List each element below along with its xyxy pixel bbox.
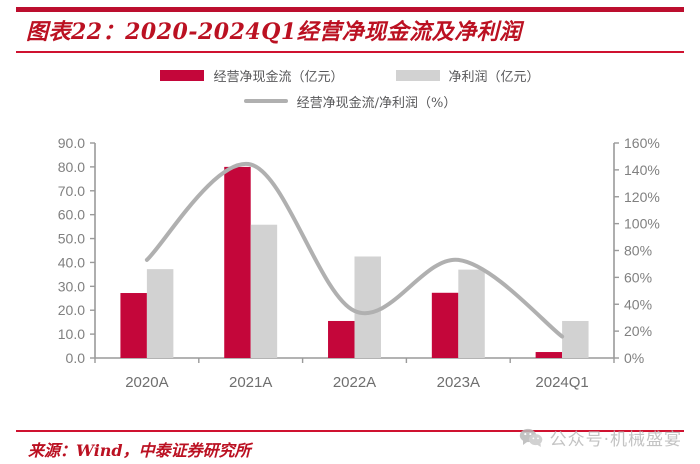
left-axis-tick-label: 20.0 [58, 302, 85, 318]
x-axis-tick-label: 2024Q1 [535, 374, 588, 391]
left-axis-tick-label: 60.0 [58, 207, 85, 223]
x-axis-tick-label: 2023A [437, 374, 480, 391]
legend-item-ratio: 经营净现金流/净利润（%） [244, 92, 457, 111]
title-underline-rule [16, 51, 684, 53]
right-axis-tick-label: 60% [624, 269, 652, 285]
bar-net-profit [251, 225, 277, 358]
bar-net-profit [355, 256, 381, 358]
x-axis-tick-label: 2021A [229, 374, 272, 391]
chart-plot-area: 0.010.020.030.040.050.060.070.080.090.00… [0, 118, 700, 413]
wechat-icon [519, 428, 543, 447]
top-rule [16, 7, 684, 12]
right-axis-tick-label: 160% [624, 135, 660, 151]
legend-swatch-line-icon [244, 99, 288, 103]
page-title: 图表22：2020-2024Q1经营净现金流及净利润 [26, 14, 522, 46]
legend-item-operating-cash-flow: 经营净现金流（亿元） [160, 66, 343, 85]
left-axis-tick-label: 0.0 [66, 350, 86, 366]
legend-row-primary: 经营净现金流（亿元） 净利润（亿元） [0, 62, 700, 88]
legend-row-secondary: 经营净现金流/净利润（%） [0, 88, 700, 114]
right-axis-tick-label: 40% [624, 296, 652, 312]
right-axis-tick-label: 140% [624, 162, 660, 178]
left-axis-tick-label: 30.0 [58, 278, 85, 294]
left-axis-tick-label: 50.0 [58, 231, 85, 247]
x-axis-tick-label: 2022A [333, 374, 376, 391]
left-axis-tick-label: 90.0 [58, 135, 85, 151]
chart-figure-page: 图表22：2020-2024Q1经营净现金流及净利润 经营净现金流（亿元） 净利… [0, 0, 700, 464]
left-axis-tick-label: 70.0 [58, 183, 85, 199]
bar-net-profit [562, 321, 588, 358]
chart-svg: 0.010.020.030.040.050.060.070.080.090.00… [0, 118, 700, 413]
right-axis-tick-label: 100% [624, 216, 660, 232]
right-axis-tick-label: 80% [624, 243, 652, 259]
bar-operating-cash-flow [224, 167, 250, 358]
watermark-text: 公众号·机械盛宴 [550, 425, 682, 450]
bar-net-profit [458, 270, 484, 358]
chart-legend: 经营净现金流（亿元） 净利润（亿元） 经营净现金流/净利润（%） [0, 62, 700, 118]
bar-operating-cash-flow [432, 293, 458, 358]
legend-swatch-gray-icon [396, 70, 440, 81]
bar-operating-cash-flow [120, 293, 146, 358]
x-axis-tick-label: 2020A [125, 374, 168, 391]
bar-net-profit [147, 269, 173, 358]
legend-swatch-red-icon [160, 70, 204, 81]
line-cash-flow-to-profit-ratio [147, 164, 562, 337]
legend-label-ratio: 经营净现金流/净利润（%） [297, 92, 457, 111]
right-axis-tick-label: 20% [624, 323, 652, 339]
right-axis-tick-label: 0% [624, 350, 644, 366]
bar-operating-cash-flow [536, 352, 562, 358]
bar-operating-cash-flow [328, 321, 354, 358]
left-axis-tick-label: 80.0 [58, 159, 85, 175]
watermark: 公众号·机械盛宴 [519, 425, 682, 450]
left-axis-tick-label: 10.0 [58, 326, 85, 342]
legend-item-net-profit: 净利润（亿元） [396, 66, 540, 85]
legend-label-net-profit: 净利润（亿元） [449, 66, 540, 85]
source-note: 来源：Wind，中泰证券研究所 [28, 437, 251, 461]
legend-label-operating-cash-flow: 经营净现金流（亿元） [213, 66, 343, 85]
right-axis-tick-label: 120% [624, 189, 660, 205]
left-axis-tick-label: 40.0 [58, 254, 85, 270]
